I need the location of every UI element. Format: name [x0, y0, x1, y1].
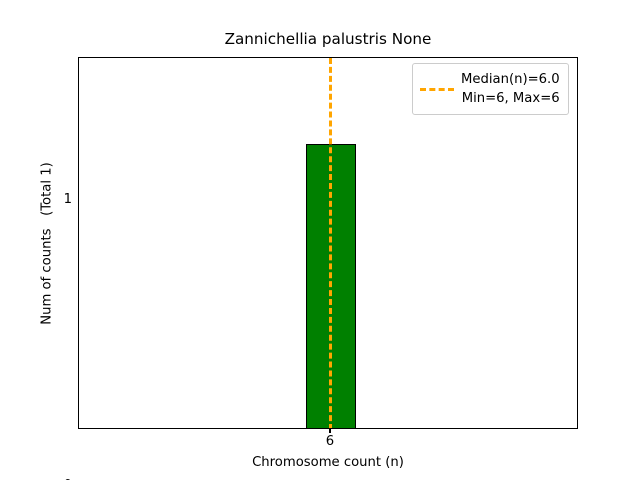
- y-tick-label-1: 1: [64, 192, 72, 207]
- y-axis-label: Num of counts (Total 1): [40, 58, 55, 430]
- dashed-line-icon: [420, 82, 454, 96]
- x-tick-mark-6: [329, 429, 330, 433]
- chart-figure: Zannichellia palustris None 1 0 6 Chromo…: [0, 0, 640, 480]
- x-axis-label: Chromosome count (n): [78, 455, 578, 470]
- x-tick-label-6: 6: [310, 434, 350, 449]
- y-axis-ticks: 1 0: [0, 57, 72, 429]
- median-line: [329, 58, 332, 428]
- legend-label-median: Median(n)=6.0: [461, 70, 560, 89]
- legend-label-minmax: Min=6, Max=6: [461, 89, 560, 108]
- page-title: Zannichellia palustris None: [78, 30, 578, 48]
- legend: Median(n)=6.0 Min=6, Max=6: [412, 63, 569, 115]
- legend-labels: Median(n)=6.0 Min=6, Max=6: [461, 70, 560, 108]
